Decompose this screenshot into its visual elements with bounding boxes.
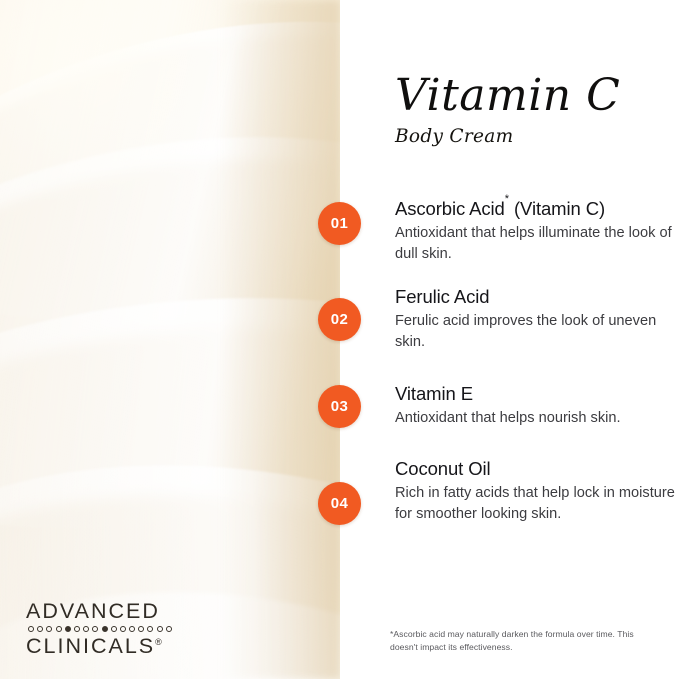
ingredient-description-03: Antioxidant that helps nourish skin. [395,408,675,429]
ingredient-text-03: Vitamin E Antioxidant that helps nourish… [395,383,675,429]
registered-trademark-icon: ® [155,636,162,646]
ingredient-badge-02: 02 [318,298,361,341]
logo-dot [83,626,89,632]
cream-texture-photo: ADVANCED CLINICALS® [0,0,340,679]
brand-logo-line-1: ADVANCED [26,601,216,623]
content-panel: Vitamin C Body Cream 01 Ascorbic Acid* (… [340,0,679,679]
ingredient-name-03: Vitamin E [395,383,675,404]
product-title: Vitamin C [395,74,675,118]
brand-logo-line-2-text: CLINICALS [26,634,155,658]
ingredient-badge-03: 03 [318,385,361,428]
logo-dot [157,626,163,632]
brand-logo-line-2: CLINICALS® [26,636,216,658]
ingredient-description-02: Ferulic acid improves the look of uneven… [395,311,675,352]
ingredient-name-04: Coconut Oil [395,458,675,479]
logo-dot-filled [65,626,71,632]
logo-dot [46,626,52,632]
brand-logo-dot-row [28,625,216,634]
logo-dot-filled [102,626,108,632]
ingredient-text-04: Coconut Oil Rich in fatty acids that hel… [395,458,675,525]
ingredient-description-04: Rich in fatty acids that help lock in mo… [395,483,675,524]
logo-dot [74,626,80,632]
logo-dot [138,626,144,632]
title-block: Vitamin C Body Cream [395,74,675,147]
brand-logo: ADVANCED CLINICALS® [26,601,216,657]
footnote-disclaimer: *Ascorbic acid may naturally darken the … [390,628,640,655]
ingredient-badge-04: 04 [318,482,361,525]
logo-dot [37,626,43,632]
logo-dot [28,626,34,632]
ingredient-text-01: Ascorbic Acid* (Vitamin C) Antioxidant t… [395,198,675,265]
footnote-asterisk-icon: * [505,193,509,205]
product-subtitle: Body Cream [395,126,675,147]
ingredient-badge-01: 01 [318,202,361,245]
ingredient-name-01-suffix: (Vitamin C) [509,198,605,219]
logo-dot [129,626,135,632]
ingredient-name-02: Ferulic Acid [395,286,675,307]
logo-dot [111,626,117,632]
logo-dot [120,626,126,632]
logo-dot [147,626,153,632]
ingredient-name-01: Ascorbic Acid* (Vitamin C) [395,198,675,219]
ingredient-description-01: Antioxidant that helps illuminate the lo… [395,223,675,264]
ingredient-name-01-main: Ascorbic Acid [395,198,505,219]
logo-dot [166,626,172,632]
logo-dot [56,626,62,632]
product-infographic: ADVANCED CLINICALS® [0,0,679,679]
ingredient-text-02: Ferulic Acid Ferulic acid improves the l… [395,286,675,353]
cream-corner-glow [0,0,260,200]
logo-dot [92,626,98,632]
